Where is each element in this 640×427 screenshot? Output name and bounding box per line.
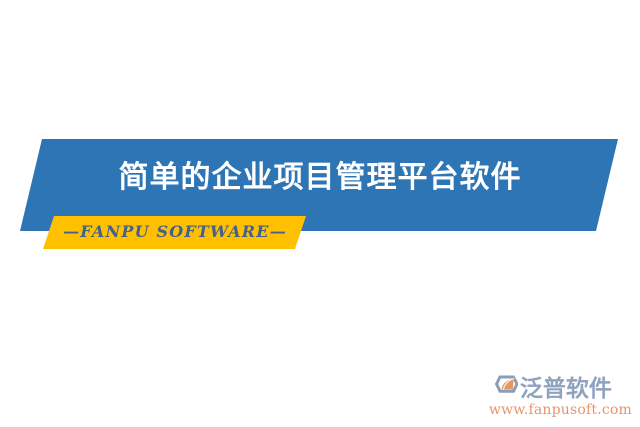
yellow-banner-shape (0, 0, 640, 427)
brand-name: 泛普软件 (520, 376, 612, 402)
brand-logo: 泛普软件 www.fanpusoft.com (488, 375, 632, 419)
brand-logo-row: 泛普软件 (488, 375, 612, 403)
fanpu-logo-icon (488, 375, 518, 403)
blue-banner-shape (0, 0, 640, 427)
page-title: 简单的企业项目管理平台软件 (0, 158, 640, 198)
banner-subtitle: —FANPU SOFTWARE— (56, 221, 294, 243)
brand-url: www.fanpusoft.com (489, 402, 632, 419)
slide-canvas: 简单的企业项目管理平台软件 —FANPU SOFTWARE— 泛普软件 www.… (0, 0, 640, 427)
